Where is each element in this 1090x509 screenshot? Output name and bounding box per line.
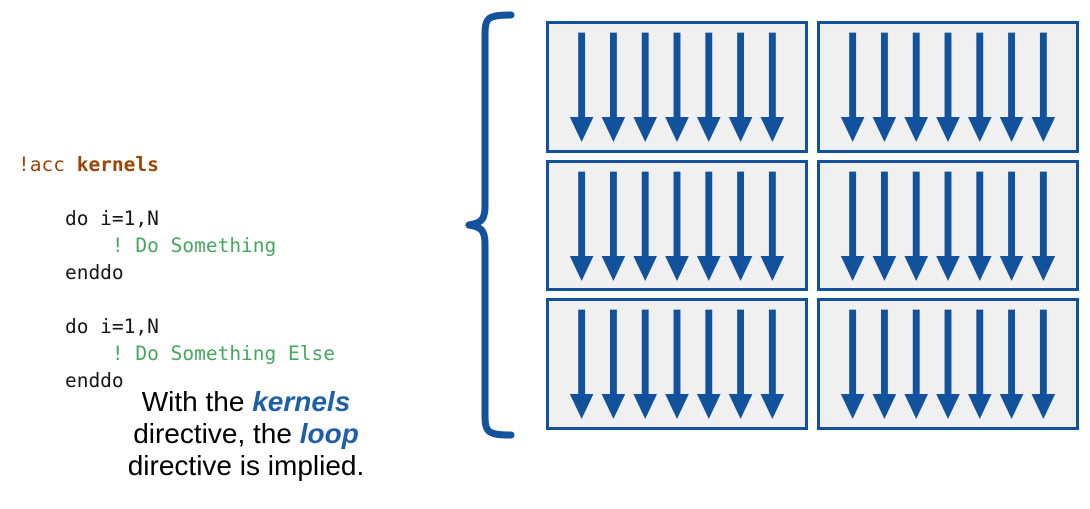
down-arrow-icon: [665, 33, 689, 142]
caption-keyword-kernels: kernels: [252, 386, 350, 417]
down-arrow-icon: [841, 171, 865, 280]
brace-icon: [463, 10, 523, 440]
down-arrow-icon: [936, 310, 960, 419]
down-arrow-icon: [873, 33, 897, 142]
down-arrow-icon: [936, 33, 960, 142]
code-line-loop1-body: ! Do Something: [18, 234, 276, 257]
left-curly-brace: [463, 10, 523, 440]
arrow-group: [549, 301, 805, 427]
grid-cell-r3c1: [546, 298, 808, 430]
down-arrow-icon: [761, 33, 785, 142]
code-token-loop2-body-0: ! Do Something Else: [18, 342, 335, 365]
code-line-blank2: [18, 288, 30, 311]
caption-line-1: With the kernels: [60, 386, 432, 418]
down-arrow-icon: [633, 33, 657, 142]
arrow-group: [820, 301, 1076, 427]
caption-text: With the kernels directive, the loop dir…: [60, 386, 432, 482]
down-arrow-icon: [697, 33, 721, 142]
down-arrow-icon: [841, 33, 865, 142]
grid-cell-r1c2: [817, 21, 1079, 153]
down-arrow-icon: [729, 310, 753, 419]
down-arrow-icon: [633, 310, 657, 419]
down-arrow-icon: [602, 171, 626, 280]
code-token-loop1-close-0: enddo: [18, 261, 124, 284]
down-arrow-icon: [729, 171, 753, 280]
down-arrow-icon: [602, 310, 626, 419]
code-line-loop2-body: ! Do Something Else: [18, 342, 335, 365]
grid-cell-r3c2: [817, 298, 1079, 430]
down-arrow-icon: [761, 171, 785, 280]
grid-cell-r2c2: [817, 160, 1079, 292]
caption-line-2-prefix: directive, the: [133, 418, 300, 449]
down-arrow-icon: [1032, 33, 1056, 142]
code-block: !acc kernels do i=1,N ! Do Something end…: [18, 151, 335, 394]
grid-cell-r2c1: [546, 160, 808, 292]
down-arrow-icon: [761, 310, 785, 419]
down-arrow-icon: [633, 171, 657, 280]
down-arrow-icon: [1000, 33, 1024, 142]
caption-keyword-loop: loop: [300, 418, 359, 449]
down-arrow-icon: [570, 33, 594, 142]
down-arrow-icon: [968, 310, 992, 419]
caption-line-3: directive is implied.: [60, 450, 432, 482]
down-arrow-icon: [570, 171, 594, 280]
down-arrow-icon: [665, 310, 689, 419]
down-arrow-icon: [904, 310, 928, 419]
code-token-directive-0: !acc: [18, 153, 77, 176]
down-arrow-icon: [904, 33, 928, 142]
down-arrow-icon: [665, 171, 689, 280]
down-arrow-icon: [697, 171, 721, 280]
code-line-directive: !acc kernels: [18, 153, 159, 176]
arrow-group: [820, 24, 1076, 150]
down-arrow-icon: [968, 171, 992, 280]
code-token-directive-1: kernels: [77, 153, 159, 176]
grid-cell-r1c1: [546, 21, 808, 153]
down-arrow-icon: [873, 171, 897, 280]
down-arrow-icon: [1000, 310, 1024, 419]
code-line-loop1-open: do i=1,N: [18, 207, 159, 230]
arrow-group: [820, 163, 1076, 289]
gang-grid-diagram: [455, 0, 1090, 509]
down-arrow-icon: [968, 33, 992, 142]
code-token-loop2-open-0: do i=1,N: [18, 315, 159, 338]
down-arrow-icon: [936, 171, 960, 280]
down-arrow-icon: [697, 310, 721, 419]
down-arrow-icon: [602, 33, 626, 142]
arrow-group: [549, 163, 805, 289]
down-arrow-icon: [873, 310, 897, 419]
down-arrow-icon: [841, 310, 865, 419]
caption-line-2: directive, the loop: [60, 418, 432, 450]
code-line-blank1: [18, 180, 30, 203]
caption-line-1-prefix: With the: [142, 386, 252, 417]
down-arrow-icon: [1000, 171, 1024, 280]
arrow-group: [549, 24, 805, 150]
worker-grid: [546, 21, 1079, 430]
down-arrow-icon: [1032, 310, 1056, 419]
down-arrow-icon: [729, 33, 753, 142]
code-token-loop1-body-0: ! Do Something: [18, 234, 276, 257]
down-arrow-icon: [904, 171, 928, 280]
code-line-loop2-open: do i=1,N: [18, 315, 159, 338]
code-panel: !acc kernels do i=1,N ! Do Something end…: [0, 0, 460, 509]
code-token-loop1-open-0: do i=1,N: [18, 207, 159, 230]
code-line-loop1-close: enddo: [18, 261, 124, 284]
down-arrow-icon: [1032, 171, 1056, 280]
down-arrow-icon: [570, 310, 594, 419]
